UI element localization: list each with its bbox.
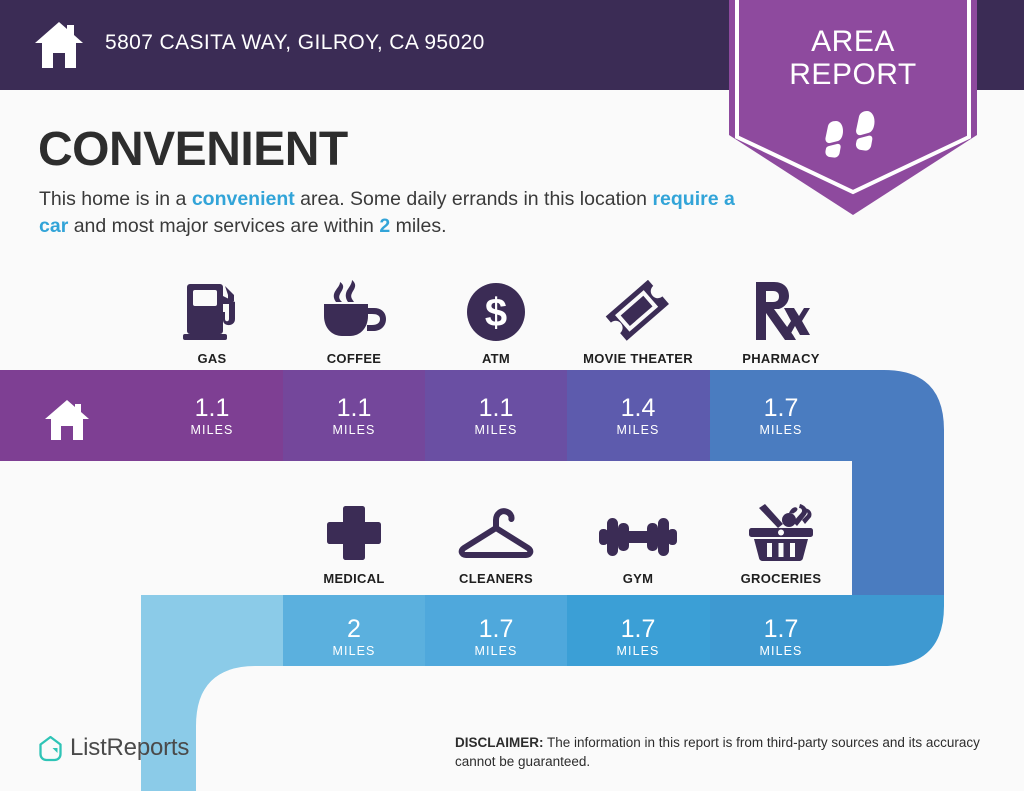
category-label: COFFEE	[283, 351, 425, 366]
page-title: CONVENIENT	[38, 122, 348, 177]
disclaimer: DISCLAIMER: The information in this repo…	[455, 733, 995, 771]
distance-value-gas: 1.1 MILES	[141, 395, 283, 437]
badge-title: AREA REPORT	[729, 25, 977, 91]
distance-number: 2	[283, 616, 425, 642]
listreports-logo: ListReports	[38, 733, 189, 763]
desc-part-4: miles.	[390, 215, 446, 237]
category-label: MOVIE THEATER	[567, 351, 709, 366]
desc-highlight-miles: 2	[379, 215, 390, 237]
listreports-house-icon	[38, 735, 63, 762]
distance-unit: MILES	[710, 644, 852, 658]
svg-text:$: $	[485, 291, 507, 335]
disclaimer-label: DISCLAIMER:	[455, 735, 544, 750]
description-text: This home is in a convenient area. Some …	[39, 186, 739, 240]
desc-part-2: area. Some daily errands in this locatio…	[295, 188, 653, 210]
distance-unit: MILES	[425, 644, 567, 658]
distance-number: 1.7	[710, 616, 852, 642]
distance-unit: MILES	[141, 423, 283, 437]
desc-part-1: This home is in a	[39, 188, 192, 210]
distance-unit: MILES	[425, 423, 567, 437]
distance-value-medical: 2 MILES	[283, 616, 425, 658]
distance-number: 1.1	[141, 395, 283, 421]
area-report-infographic: 5807 CASITA WAY, GILROY, CA 95020 AREA R…	[0, 0, 1024, 791]
distance-value-coffee: 1.1 MILES	[283, 395, 425, 437]
category-coffee: COFFEE	[283, 276, 425, 376]
distance-unit: MILES	[283, 423, 425, 437]
property-address: 5807 CASITA WAY, GILROY, CA 95020	[105, 31, 485, 55]
distance-number: 1.1	[283, 395, 425, 421]
home-icon	[44, 398, 90, 442]
home-icon	[33, 20, 85, 70]
badge-line-2: REPORT	[729, 58, 977, 91]
distance-number: 1.7	[710, 395, 852, 421]
category-label: PHARMACY	[710, 351, 852, 366]
category-movie-theater: MOVIE THEATER	[567, 276, 709, 376]
distance-value-movie-theater: 1.4 MILES	[567, 395, 709, 437]
category-pharmacy: PHARMACY	[710, 276, 852, 376]
footprints-icon	[816, 105, 890, 165]
distance-number: 1.1	[425, 395, 567, 421]
distance-value-groceries: 1.7 MILES	[710, 616, 852, 658]
distance-number: 1.7	[567, 616, 709, 642]
distance-unit: MILES	[710, 423, 852, 437]
category-label: GAS	[141, 351, 283, 366]
rx-icon	[710, 276, 852, 342]
distance-unit: MILES	[567, 644, 709, 658]
desc-highlight-convenient: convenient	[192, 188, 295, 210]
distance-unit: MILES	[567, 423, 709, 437]
distance-number: 1.7	[425, 616, 567, 642]
distance-unit: MILES	[283, 644, 425, 658]
listreports-wordmark: ListReports	[70, 734, 189, 762]
category-label: ATM	[425, 351, 567, 366]
ribbon-seg-turn-top	[852, 370, 962, 461]
category-gas: GAS	[141, 276, 283, 376]
desc-part-3: and most major services are within	[68, 215, 379, 237]
dollar-circle-icon: $	[425, 276, 567, 342]
distance-value-gym: 1.7 MILES	[567, 616, 709, 658]
distance-value-cleaners: 1.7 MILES	[425, 616, 567, 658]
distance-value-atm: 1.1 MILES	[425, 395, 567, 437]
coffee-cup-icon	[283, 276, 425, 342]
gas-pump-icon	[141, 276, 283, 342]
distance-value-pharmacy: 1.7 MILES	[710, 395, 852, 437]
category-atm: $ ATM	[425, 276, 567, 376]
badge-line-1: AREA	[729, 25, 977, 58]
movie-ticket-icon	[567, 276, 709, 342]
distance-number: 1.4	[567, 395, 709, 421]
